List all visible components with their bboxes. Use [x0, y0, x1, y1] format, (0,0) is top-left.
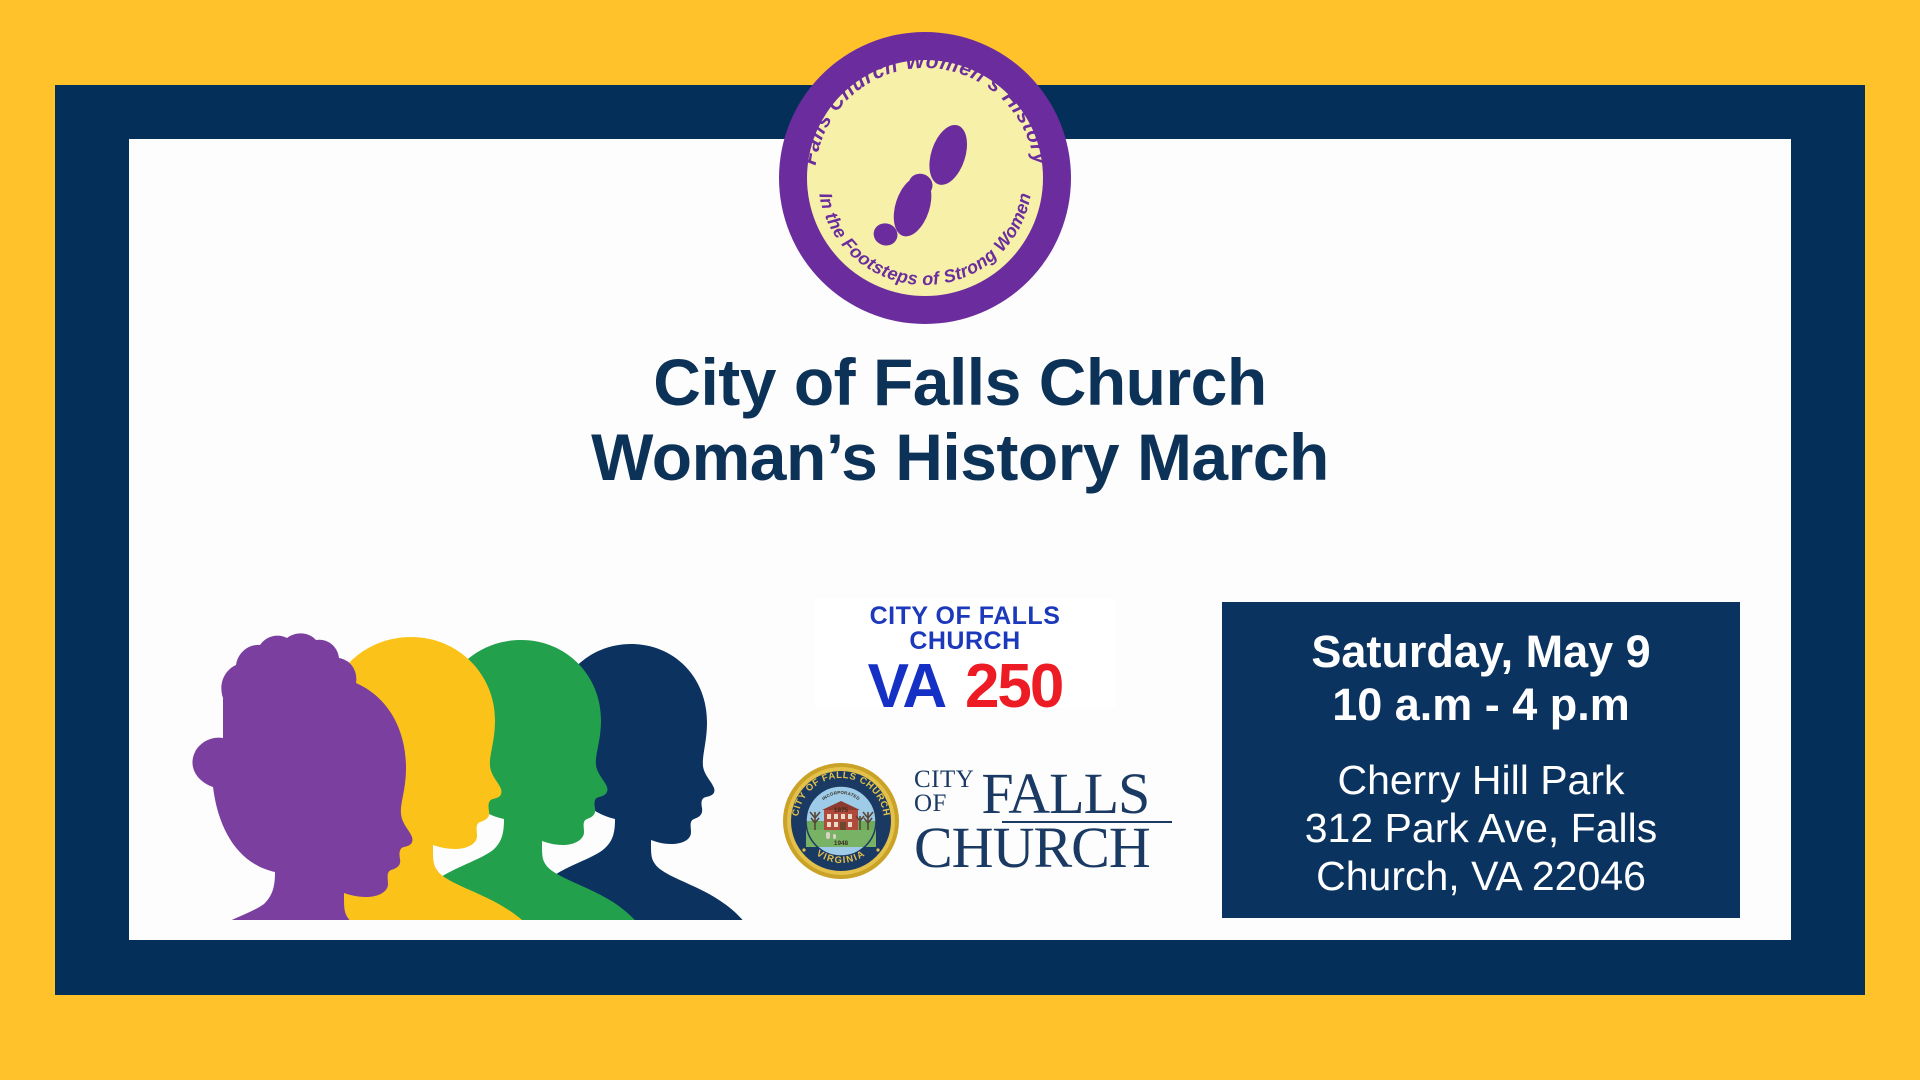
va250-logo: CITY OF FALLS CHURCH VA250 — [815, 598, 1115, 708]
falls-church-womens-history-seal: Falls Church Women’s History In the Foot… — [778, 31, 1072, 325]
wordmark-church: CHURCH — [914, 821, 1172, 874]
event-address-line-2: Church, VA 22046 — [1222, 853, 1740, 901]
title-line-1: City of Falls Church — [129, 345, 1791, 420]
city-wordmark: CITY OF FALLS CHURCH — [914, 768, 1172, 874]
va250-va-text: VA — [868, 652, 946, 721]
page-title: City of Falls Church Woman’s History Mar… — [129, 345, 1791, 495]
event-date: Saturday, May 9 — [1222, 626, 1740, 679]
city-seal-icon: CITY OF FALLS CHURCH VIRGINIA INCORPORAT… — [782, 762, 900, 880]
va250-mark: VA250 — [815, 656, 1115, 718]
event-poster: Falls Church Women’s History In the Foot… — [0, 0, 1920, 1080]
wordmark-city-of: CITY OF — [914, 768, 974, 819]
wordmark-falls: FALLS — [981, 769, 1149, 819]
event-address-line-1: 312 Park Ave, Falls — [1222, 805, 1740, 853]
seal-year-top: 1875 — [834, 807, 849, 814]
seal-year-bottom: 1948 — [834, 840, 849, 847]
va250-number-text: 250 — [965, 652, 1062, 721]
event-details-box: Saturday, May 9 10 a.m - 4 p.m Cherry Hi… — [1222, 602, 1740, 918]
event-datetime: Saturday, May 9 10 a.m - 4 p.m — [1222, 626, 1740, 731]
four-women-profile-silhouettes — [160, 600, 760, 920]
city-of-falls-church-logo: CITY OF FALLS CHURCH VIRGINIA INCORPORAT… — [782, 757, 1172, 885]
title-line-2: Woman’s History March — [129, 420, 1791, 495]
event-venue: Cherry Hill Park — [1222, 757, 1740, 805]
wordmark-city: CITY — [914, 768, 974, 793]
wordmark-of: OF — [914, 792, 974, 817]
event-location: Cherry Hill Park 312 Park Ave, Falls Chu… — [1222, 757, 1740, 901]
va250-top-line: CITY OF FALLS CHURCH — [815, 598, 1115, 654]
event-time: 10 a.m - 4 p.m — [1222, 679, 1740, 732]
